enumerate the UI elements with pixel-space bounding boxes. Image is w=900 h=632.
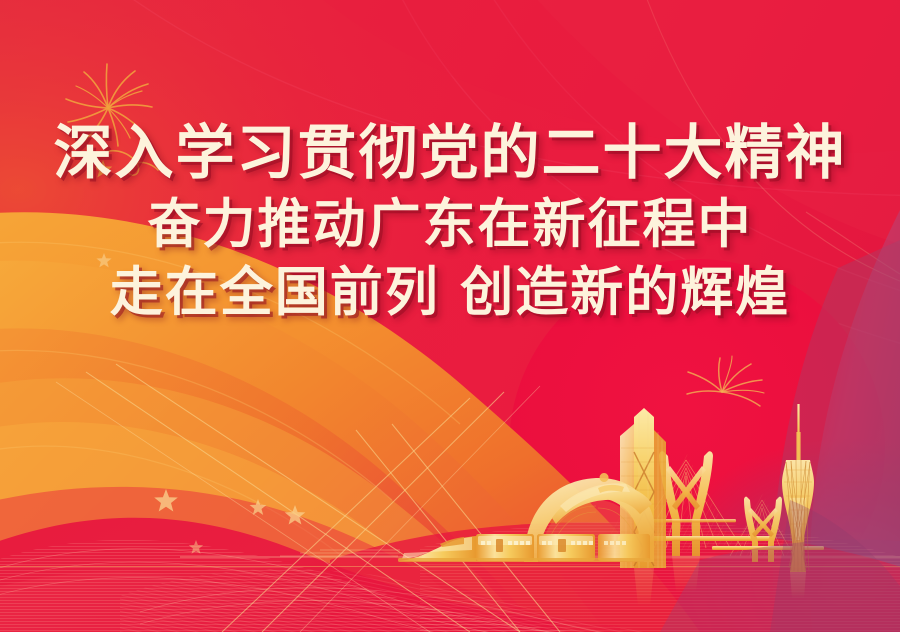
poster-canvas: 深入学习贯彻党的二十大精神 奋力推动广东在新征程中 走在全国前列 创造新的辉煌: [0, 0, 900, 632]
background-art: [0, 0, 900, 632]
